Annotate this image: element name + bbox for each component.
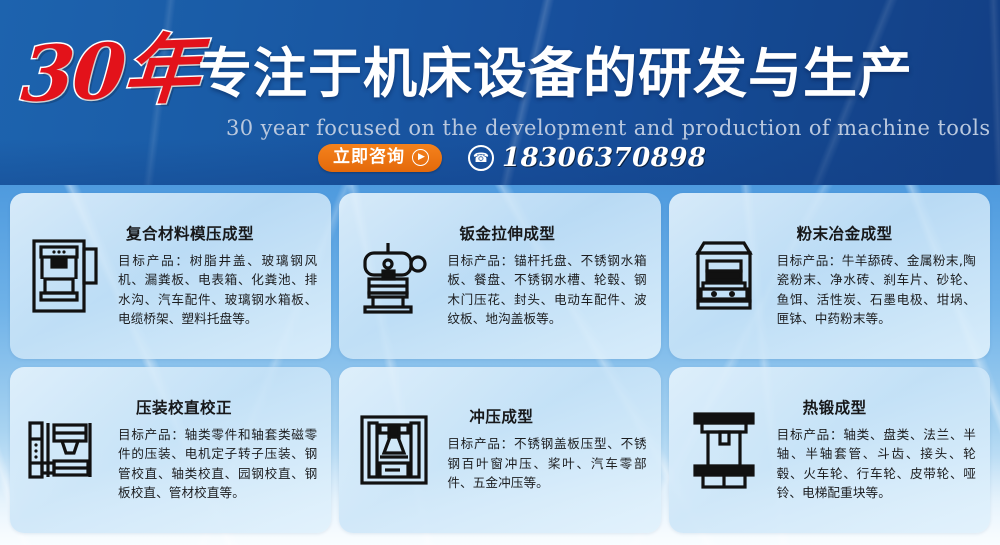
play-arrow-icon: ▶	[412, 149, 429, 166]
card-title: 复合材料模压成型	[126, 224, 317, 244]
card-sheet-metal-stretch[interactable]: 钣金拉伸成型 目标产品：锚杆托盘、不锈钢水箱板、餐盘、不锈钢水槽、轮毂、钢木门压…	[339, 193, 660, 359]
card-description: 目标产品：不锈钢盖板压型、不锈钢百叶窗冲压、桨叶、汽车零部件、五金冲压等。	[447, 434, 646, 492]
cards-section: 复合材料模压成型 目标产品：树脂井盖、玻璃钢风机、漏粪板、电表箱、化粪池、排水沟…	[0, 185, 1000, 545]
phone-block[interactable]: ☎ 18306370898	[468, 144, 707, 172]
card-description: 目标产品：锚杆托盘、不锈钢水箱板、餐盘、不锈钢水槽、轮毂、钢木门压花、封头、电动…	[447, 251, 646, 329]
banner-header: 30年 专注于机床设备的研发与生产 30 year focused on the…	[0, 0, 1000, 185]
cards-grid: 复合材料模压成型 目标产品：树脂井盖、玻璃钢风机、漏粪板、电表箱、化粪池、排水沟…	[0, 185, 1000, 545]
press-fit-straightening-icon	[22, 413, 108, 487]
promo-banner: 30年 专注于机床设备的研发与生产 30 year focused on the…	[0, 0, 1000, 545]
card-powder-metallurgy[interactable]: 粉末冶金成型 目标产品：牛羊舔砖、金属粉末,陶瓷粉末、净水砖、刹车片、砂轮、鱼饵…	[669, 193, 990, 359]
hot-forging-press-icon	[681, 408, 767, 492]
card-description: 目标产品：轴类零件和轴套类磁零件的压装、电机定子转子压装、钢管校直、轴类校直、园…	[118, 425, 317, 503]
phone-icon: ☎	[468, 145, 494, 171]
card-title: 粉末冶金成型	[797, 224, 976, 244]
card-press-fit-straightening[interactable]: 压装校直校正 目标产品：轴类零件和轴套类磁零件的压装、电机定子转子压装、钢管校直…	[10, 367, 331, 533]
card-hot-forging[interactable]: 热锻成型 目标产品：轴类、盘类、法兰、半轴、半轴套管、斗齿、接头、轮毂、火车轮、…	[669, 367, 990, 533]
card-description: 目标产品：树脂井盖、玻璃钢风机、漏粪板、电表箱、化粪池、排水沟、汽车配件、玻璃钢…	[118, 251, 317, 329]
card-stamping[interactable]: 冲压成型 目标产品：不锈钢盖板压型、不锈钢百叶窗冲压、桨叶、汽车零部件、五金冲压…	[339, 367, 660, 533]
powder-metallurgy-press-icon	[681, 235, 767, 317]
page-subtitle: 30 year focused on the development and p…	[226, 116, 991, 140]
hydraulic-press-icon	[22, 235, 108, 317]
card-description: 目标产品：轴类、盘类、法兰、半轴、半轴套管、斗齿、接头、轮毂、火车轮、行车轮、皮…	[777, 425, 976, 503]
page-title: 专注于机床设备的研发与生产	[198, 46, 913, 102]
stamping-press-icon	[351, 411, 437, 489]
card-composite-molding[interactable]: 复合材料模压成型 目标产品：树脂井盖、玻璃钢风机、漏粪板、电表箱、化粪池、排水沟…	[10, 193, 331, 359]
consult-now-label: 立即咨询	[333, 148, 405, 167]
card-title: 热锻成型	[803, 398, 976, 418]
card-description: 目标产品：牛羊舔砖、金属粉末,陶瓷粉末、净水砖、刹车片、砂轮、鱼饵、活性炭、石墨…	[777, 251, 976, 329]
cta-row: 立即咨询 ▶ ☎ 18306370898	[318, 144, 707, 172]
phone-number: 18306370898	[502, 144, 707, 172]
card-title: 钣金拉伸成型	[459, 224, 646, 244]
card-title: 冲压成型	[469, 407, 646, 427]
sheet-metal-stretch-press-icon	[351, 235, 437, 317]
card-title: 压装校直校正	[136, 398, 317, 418]
years-badge: 30年	[19, 31, 201, 113]
consult-now-button[interactable]: 立即咨询 ▶	[318, 144, 442, 172]
